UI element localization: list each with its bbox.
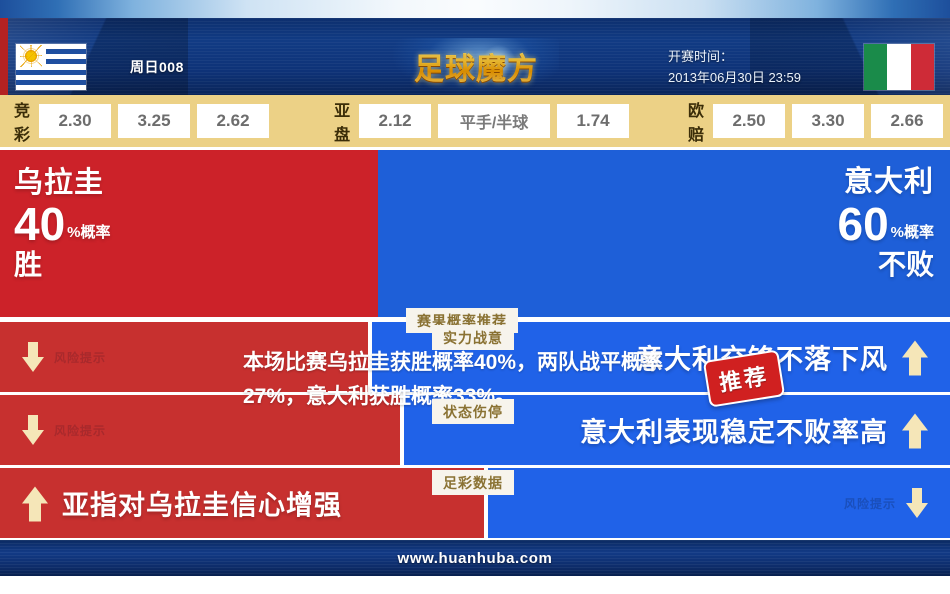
odds-cell[interactable]: 2.62 [197, 104, 269, 138]
probability-panel: 乌拉圭 40 %概率 胜 意大利 60 %概率 不败 赛果概率推荐 本场比赛乌拉… [0, 150, 950, 317]
home-team-result: 胜 [14, 248, 111, 282]
section-tag-lottery-data: 足彩数据 [432, 470, 514, 495]
arrow-down-icon [22, 342, 44, 372]
arrow-down-icon [906, 488, 928, 518]
row-risk-note-left: 风险提示 [22, 415, 106, 445]
row-headline: 亚指对乌拉圭信心增强 [22, 484, 342, 523]
row-risk-note-left: 风险提示 [22, 342, 106, 372]
away-team-percent: 60 [837, 200, 888, 248]
bottom-padding [0, 576, 950, 594]
row-risk-note-right: 风险提示 [844, 488, 928, 518]
section-tag-strength: 实力战意 [432, 325, 514, 350]
odds-label-jingcai: 竞彩 [14, 97, 31, 145]
odds-cell[interactable]: 2.30 [39, 104, 111, 138]
kickoff-time: 开赛时间： 2013年06月30日 23:59 [668, 46, 801, 88]
site-logo: 足球魔方 [393, 38, 559, 94]
odds-cell-handicap[interactable]: 平手/半球 [438, 104, 550, 138]
footer-bar: www.huanhuba.com [0, 540, 950, 576]
arrow-up-icon [902, 339, 928, 375]
row-headline-text: 意大利表现稳定不败率高 [580, 411, 888, 450]
risk-label: 风险提示 [54, 422, 106, 439]
kickoff-label: 开赛时间： [668, 46, 801, 67]
kickoff-value: 2013年06月30日 23:59 [668, 67, 801, 88]
odds-group-oupei: 欧赔 2.50 3.30 2.66 [674, 97, 950, 145]
recommend-stamp-label: 推荐 [718, 363, 771, 396]
away-team-name: 意大利 [837, 164, 934, 200]
odds-bar: 竞彩 2.30 3.25 2.62 亚盘 2.12 平手/半球 1.74 欧赔 … [0, 95, 950, 147]
header-bar: 周日008 足球魔方 开赛时间： 2013年06月30日 23:59 [0, 18, 950, 95]
odds-cell[interactable]: 1.74 [557, 104, 629, 138]
odds-cell[interactable]: 3.30 [792, 104, 864, 138]
uruguay-flag [16, 44, 86, 90]
match-number: 周日008 [130, 57, 184, 77]
away-team-percent-suffix: %概率 [891, 225, 934, 240]
odds-group-jingcai: 竞彩 2.30 3.25 2.62 [0, 97, 276, 145]
home-team-block: 乌拉圭 40 %概率 胜 [14, 166, 111, 282]
odds-label-oupei: 欧赔 [688, 97, 705, 145]
odds-cell[interactable]: 2.50 [713, 104, 785, 138]
site-url[interactable]: www.huanhuba.com [398, 550, 553, 567]
section-tag-form: 状态伤停 [432, 399, 514, 424]
odds-cell[interactable]: 2.66 [871, 104, 943, 138]
risk-label: 风险提示 [844, 495, 896, 512]
away-team-block: 意大利 60 %概率 不败 [837, 164, 934, 282]
risk-label: 风险提示 [54, 349, 106, 366]
header-left-accent [0, 18, 8, 95]
row-headline: 意大利表现稳定不败率高 [580, 411, 928, 450]
odds-label-yapan: 亚盘 [334, 97, 351, 145]
home-team-percent: 40 [14, 200, 65, 248]
away-team-result: 不败 [837, 248, 934, 282]
arrow-up-icon [902, 412, 928, 448]
logo-text: 足球魔方 [414, 44, 538, 88]
arrow-down-icon [22, 415, 44, 445]
odds-group-yapan: 亚盘 2.12 平手/半球 1.74 [320, 97, 636, 145]
sun-of-may-icon [24, 49, 38, 63]
arrow-up-icon [22, 485, 48, 521]
top-gradient-strip [0, 0, 950, 18]
odds-cell[interactable]: 2.12 [359, 104, 431, 138]
home-team-name: 乌拉圭 [14, 166, 111, 200]
match-preview-graphic: 周日008 足球魔方 开赛时间： 2013年06月30日 23:59 竞彩 2.… [0, 0, 950, 594]
odds-cell[interactable]: 3.25 [118, 104, 190, 138]
row-headline-text: 亚指对乌拉圭信心增强 [62, 484, 342, 523]
home-team-percent-suffix: %概率 [67, 225, 110, 240]
italy-flag [864, 44, 934, 90]
